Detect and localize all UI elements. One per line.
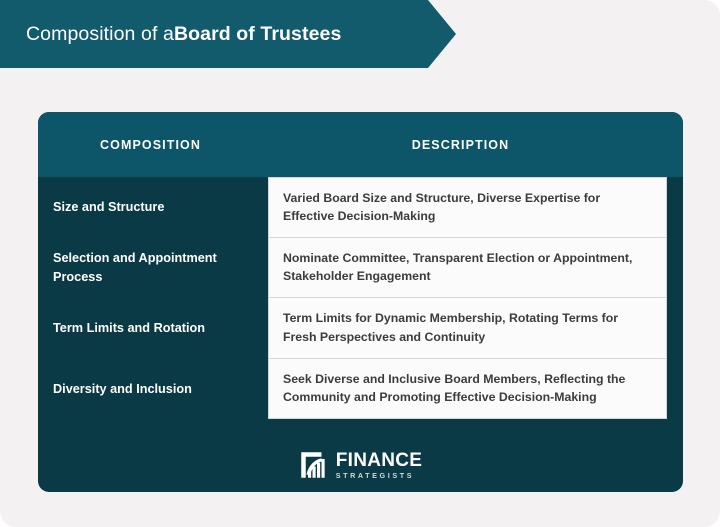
- table-header-row: COMPOSITION DESCRIPTION: [38, 112, 683, 177]
- logo-wordmark: FINANCE STRATEGISTS: [336, 451, 423, 479]
- finance-strategists-bar-chart-icon: [299, 450, 329, 480]
- row-description-cell: Nominate Committee, Transparent Election…: [268, 238, 667, 299]
- title-banner: Composition of a Board of Trustees: [0, 0, 456, 68]
- page-title-light: Composition of a: [26, 23, 174, 46]
- row-composition-label: Term Limits and Rotation: [38, 298, 268, 359]
- table-row: Size and Structure Varied Board Size and…: [38, 177, 683, 238]
- row-composition-label: Selection and Appointment Process: [38, 238, 268, 299]
- infographic-page: Composition of a Board of Trustees COMPO…: [0, 0, 720, 527]
- table-rows: Size and Structure Varied Board Size and…: [38, 177, 683, 419]
- composition-table-card: COMPOSITION DESCRIPTION Size and Structu…: [38, 112, 683, 492]
- row-description-cell: Term Limits for Dynamic Membership, Rota…: [268, 298, 667, 359]
- row-description-cell: Seek Diverse and Inclusive Board Members…: [268, 359, 667, 420]
- page-title: Composition of a Board of Trustees: [26, 0, 341, 68]
- logo-word-finance: FINANCE: [336, 451, 423, 470]
- row-composition-label: Size and Structure: [38, 177, 268, 238]
- table-header-description: DESCRIPTION: [268, 138, 683, 152]
- logo-word-strategists: STRATEGISTS: [336, 472, 423, 479]
- row-composition-label: Diversity and Inclusion: [38, 359, 268, 420]
- row-description-cell: Varied Board Size and Structure, Diverse…: [268, 177, 667, 238]
- page-title-bold: Board of Trustees: [174, 23, 342, 46]
- table-row: Diversity and Inclusion Seek Diverse and…: [38, 359, 683, 420]
- table-body: Size and Structure Varied Board Size and…: [38, 177, 683, 492]
- finance-strategists-logo: FINANCE STRATEGISTS: [38, 450, 683, 480]
- table-header-composition: COMPOSITION: [38, 138, 268, 152]
- table-row: Selection and Appointment Process Nomina…: [38, 238, 683, 299]
- table-row: Term Limits and Rotation Term Limits for…: [38, 298, 683, 359]
